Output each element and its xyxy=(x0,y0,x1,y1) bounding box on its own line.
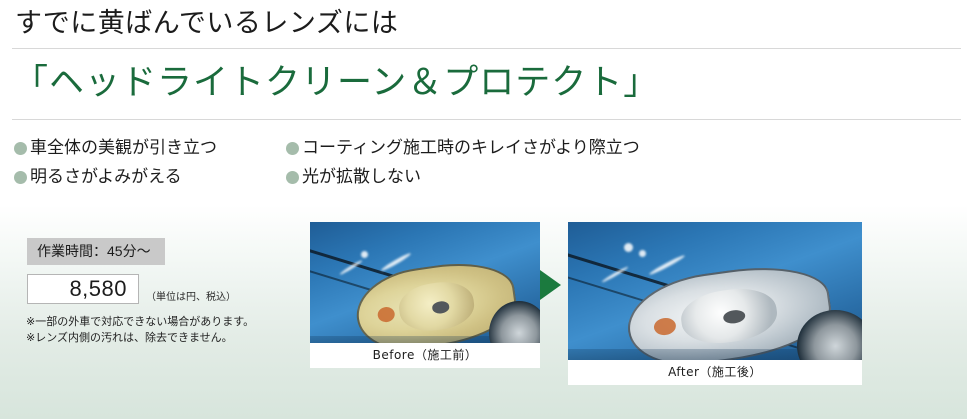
right-triangle-arrow-icon xyxy=(540,270,561,300)
divider-top xyxy=(12,48,961,49)
list-item: 光が拡散しない xyxy=(286,167,421,187)
benefit-label: 光が拡散しない xyxy=(302,167,421,187)
price-box: 8,580 xyxy=(27,274,139,304)
work-time-badge: 作業時間：45分〜 xyxy=(27,238,165,265)
list-item: 車全体の美観が引き立つ xyxy=(14,138,286,158)
bullet-dot-icon xyxy=(286,171,299,184)
bullet-dot-icon xyxy=(14,171,27,184)
offer-notes: ※一部の外車で対応できない場合があります。 ※レンズ内側の汚れは、除去できません… xyxy=(26,314,254,346)
benefit-label: 明るさがよみがえる xyxy=(30,167,182,187)
price-value: 8,580 xyxy=(69,277,127,301)
turn-signal-lamp xyxy=(653,316,677,336)
promo-page: すでに黄ばんでいるレンズには 「ヘッドライトクリーン＆プロテクト」 車全体の美観… xyxy=(0,0,967,419)
list-item: コーティング施工時のキレイさがより際立つ xyxy=(286,138,640,158)
benefit-row: 明るさがよみがえる 光が拡散しない xyxy=(14,167,944,196)
paint-glare xyxy=(624,243,633,252)
page-headline: すでに黄ばんでいるレンズには xyxy=(15,4,398,42)
benefit-label: コーティング施工時のキレイさがより際立つ xyxy=(302,138,640,158)
turn-signal-lamp xyxy=(376,306,395,323)
after-caption: After（施工後） xyxy=(568,360,862,385)
divider-under-title xyxy=(12,119,961,120)
price-unit-note: （単位は円、税込） xyxy=(146,292,236,304)
paint-glare xyxy=(361,251,368,258)
before-photo: Before（施工前） xyxy=(310,222,540,368)
bullet-dot-icon xyxy=(286,142,299,155)
note-line: ※一部の外車で対応できない場合があります。 xyxy=(26,314,254,330)
benefit-label: 車全体の美観が引き立つ xyxy=(30,138,217,158)
list-item: 明るさがよみがえる xyxy=(14,167,286,187)
after-photo: After（施工後） xyxy=(568,222,862,385)
note-line: ※レンズ内側の汚れは、除去できません。 xyxy=(26,330,254,346)
benefit-row: 車全体の美観が引き立つ コーティング施工時のキレイさがより際立つ xyxy=(14,138,944,167)
page-title: 「ヘッドライトクリーン＆プロテクト」 xyxy=(13,58,659,108)
benefit-list: 車全体の美観が引き立つ コーティング施工時のキレイさがより際立つ 明るさがよみが… xyxy=(14,138,944,196)
before-caption: Before（施工前） xyxy=(310,343,540,368)
paint-glare xyxy=(639,250,646,257)
bullet-dot-icon xyxy=(14,142,27,155)
